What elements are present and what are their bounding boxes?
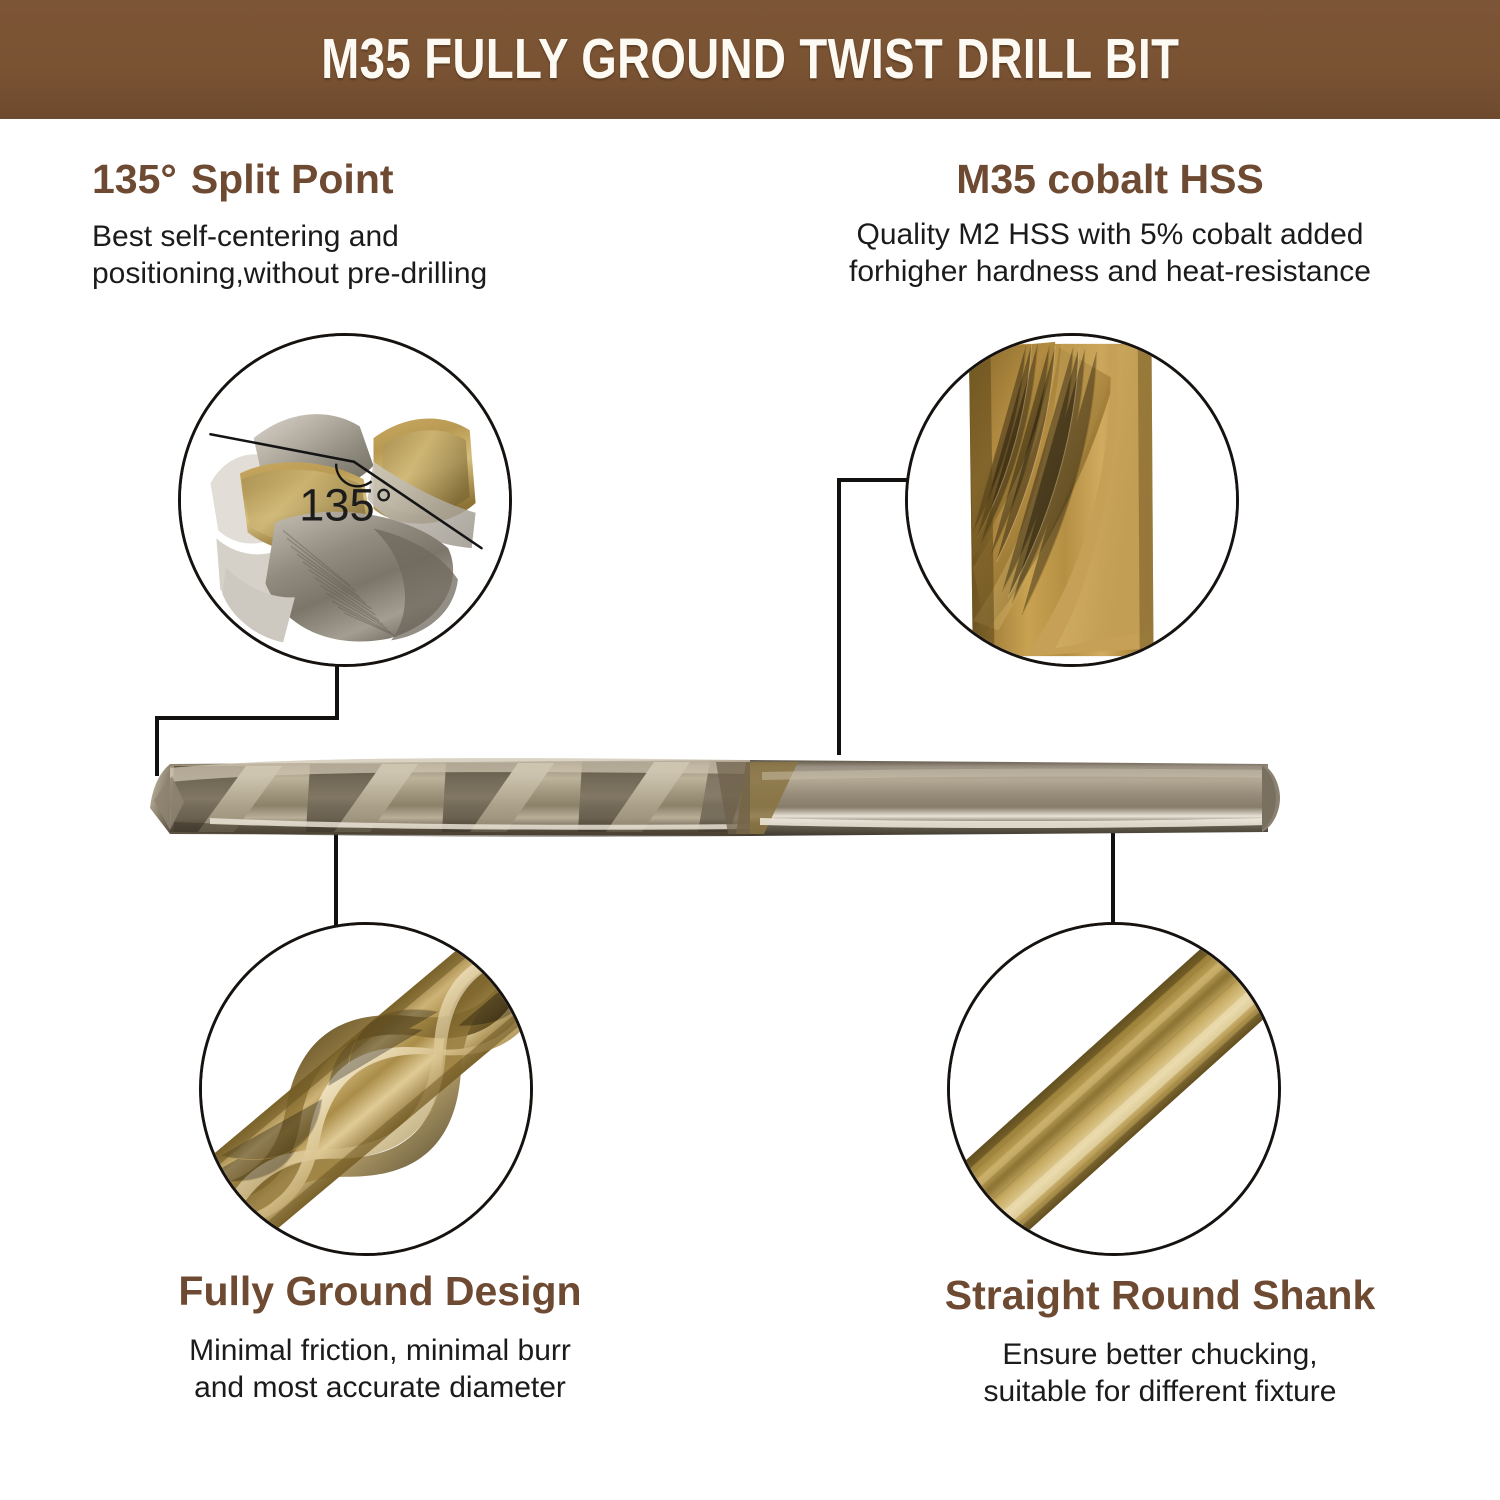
drill-bit-photo — [150, 748, 1280, 848]
infographic-page: M35 FULLY GROUND TWIST DRILL BIT 135°Spl… — [0, 0, 1500, 1500]
feature-body-line: positioning,without pre-drilling — [92, 256, 487, 293]
feature-text-fully-ground: Fully Ground Design Minimal friction, mi… — [60, 1268, 700, 1406]
page-title: M35 FULLY GROUND TWIST DRILL BIT — [321, 31, 1179, 88]
header-banner: M35 FULLY GROUND TWIST DRILL BIT — [0, 0, 1500, 119]
cobalt-coating-photo — [908, 336, 1236, 664]
angle-label: 135° — [299, 480, 392, 531]
feature-body-line: Quality M2 HSS with 5% cobalt added — [790, 217, 1430, 254]
shank-photo — [950, 925, 1278, 1253]
feature-body-line: and most accurate diameter — [60, 1370, 700, 1407]
feature-heading-split-point: 135°Split Point — [92, 156, 487, 203]
flute-photo — [202, 925, 530, 1253]
callout-flute-closeup — [199, 922, 533, 1256]
drill-tip-photo: 135° — [181, 336, 509, 664]
split-point-title: Split Point — [191, 156, 394, 202]
callout-shank-closeup — [947, 922, 1281, 1256]
feature-text-split-point: 135°Split Point Best self-centering and … — [92, 156, 487, 292]
feature-body-line: Ensure better chucking, — [840, 1337, 1480, 1374]
feature-text-cobalt: M35 cobalt HSS Quality M2 HSS with 5% co… — [790, 156, 1430, 290]
feature-body-line: Best self-centering and — [92, 219, 487, 256]
leader-line-cobalt — [837, 478, 841, 755]
feature-body-line: suitable for different fixture — [840, 1374, 1480, 1411]
leader-line-split-point — [335, 664, 339, 720]
feature-body-straight-shank: Ensure better chucking, suitable for dif… — [840, 1337, 1480, 1410]
feature-body-fully-ground: Minimal friction, minimal burr and most … — [60, 1333, 700, 1406]
feature-body-split-point: Best self-centering and positioning,with… — [92, 219, 487, 292]
leader-line-cobalt — [837, 478, 911, 482]
feature-heading-fully-ground: Fully Ground Design — [60, 1268, 700, 1315]
feature-body-line: forhigher hardness and heat-resistance — [790, 254, 1430, 291]
callout-drill-tip-closeup: 135° — [178, 333, 512, 667]
feature-body-cobalt: Quality M2 HSS with 5% cobalt added forh… — [790, 217, 1430, 290]
drill-bit-image — [150, 748, 1280, 848]
feature-body-line: Minimal friction, minimal burr — [60, 1333, 700, 1370]
leader-line-split-point — [155, 716, 339, 720]
feature-text-straight-shank: Straight Round Shank Ensure better chuck… — [840, 1272, 1480, 1410]
feature-heading-straight-shank: Straight Round Shank — [840, 1272, 1480, 1319]
callout-cobalt-coating-closeup — [905, 333, 1239, 667]
split-point-angle: 135° — [92, 156, 177, 202]
feature-heading-cobalt: M35 cobalt HSS — [790, 156, 1430, 203]
